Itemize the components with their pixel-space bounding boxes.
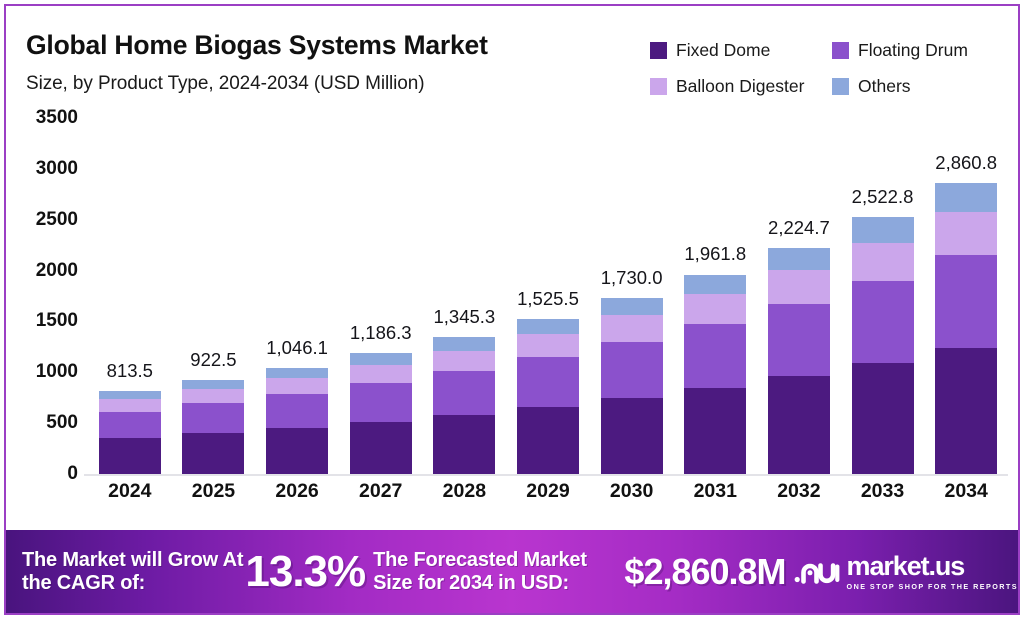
- y-axis-tick-label: 2500: [36, 209, 78, 231]
- bar-value-label: 1,345.3: [433, 306, 495, 328]
- y-axis: 3500300025002000150010005000: [6, 118, 84, 478]
- bar-segment[interactable]: [684, 324, 746, 388]
- bar-segment[interactable]: [601, 315, 663, 341]
- bar-segment[interactable]: [433, 337, 495, 350]
- bar-value-label: 2,860.8: [935, 152, 997, 174]
- bar-segment[interactable]: [768, 248, 830, 270]
- bar-segment[interactable]: [517, 319, 579, 334]
- bar-group[interactable]: 1,961.8: [684, 275, 746, 475]
- bar-segment[interactable]: [350, 365, 412, 383]
- legend-item[interactable]: Floating Drum: [832, 32, 1008, 68]
- bar-stack: [768, 248, 830, 474]
- y-axis-tick-label: 3500: [36, 107, 78, 129]
- bar-segment[interactable]: [517, 357, 579, 407]
- bar-value-label: 1,730.0: [601, 267, 663, 289]
- bar-segment[interactable]: [182, 389, 244, 403]
- x-axis-tick-label: 2025: [182, 480, 244, 503]
- page-subtitle: Size, by Product Type, 2024-2034 (USD Mi…: [26, 73, 424, 95]
- bar-segment[interactable]: [99, 399, 161, 411]
- bar-segment[interactable]: [684, 294, 746, 324]
- bar-segment[interactable]: [99, 412, 161, 438]
- bar-segment[interactable]: [768, 270, 830, 304]
- chart-page: Global Home Biogas Systems Market Size, …: [0, 0, 1024, 619]
- bar-stack: [99, 391, 161, 474]
- bar-segment[interactable]: [684, 275, 746, 295]
- bar-segment[interactable]: [852, 281, 914, 363]
- market-us-logo-icon: [794, 555, 840, 589]
- legend-swatch-icon: [832, 78, 849, 95]
- bar-group[interactable]: 2,522.8: [852, 217, 914, 474]
- bar-value-label: 1,186.3: [350, 322, 412, 344]
- cagr-value: 13.3%: [245, 547, 365, 597]
- y-axis-tick-label: 500: [46, 412, 78, 434]
- bar-segment[interactable]: [266, 428, 328, 474]
- bar-value-label: 2,224.7: [768, 217, 830, 239]
- footer-banner: The Market will Grow At the CAGR of: 13.…: [6, 530, 1018, 613]
- x-axis-tick-label: 2024: [99, 480, 161, 503]
- bar-group[interactable]: 2,860.8: [935, 183, 997, 474]
- logo-wordmark: market.us: [847, 551, 965, 581]
- bar-group[interactable]: 1,046.1: [266, 368, 328, 474]
- bar-group[interactable]: 1,525.5: [517, 319, 579, 474]
- legend-item-label: Others: [858, 76, 911, 97]
- bar-stack: [433, 337, 495, 474]
- bar-segment[interactable]: [266, 394, 328, 428]
- bar-segment[interactable]: [350, 383, 412, 422]
- x-axis-line: [84, 474, 1008, 476]
- bar-group[interactable]: 1,345.3: [433, 337, 495, 474]
- legend-swatch-icon: [650, 78, 667, 95]
- legend-item-label: Balloon Digester: [676, 76, 804, 97]
- bar-segment[interactable]: [517, 334, 579, 357]
- x-axis-labels: 2024202520262027202820292030203120322033…: [88, 480, 1008, 520]
- bar-stack: [266, 368, 328, 474]
- bar-segment[interactable]: [601, 398, 663, 474]
- x-axis-tick-label: 2030: [601, 480, 663, 503]
- x-axis-tick-label: 2027: [350, 480, 412, 503]
- x-axis-tick-label: 2031: [684, 480, 746, 503]
- legend-item[interactable]: Fixed Dome: [650, 32, 826, 68]
- bar-segment[interactable]: [768, 376, 830, 474]
- forecast-size-value: $2,860.8M: [624, 551, 785, 593]
- market-us-logo[interactable]: market.us ONE STOP SHOP FOR THE REPORTS: [794, 553, 1018, 591]
- bar-value-label: 1,046.1: [266, 337, 328, 359]
- bar-stack: [601, 298, 663, 474]
- bar-stack: [852, 217, 914, 474]
- bar-stack: [935, 183, 997, 474]
- bar-segment[interactable]: [266, 378, 328, 394]
- y-axis-tick-label: 1500: [36, 310, 78, 332]
- x-axis-tick-label: 2028: [433, 480, 495, 503]
- page-title: Global Home Biogas Systems Market: [26, 30, 488, 61]
- bar-value-label: 1,525.5: [517, 288, 579, 310]
- bar-segment[interactable]: [852, 363, 914, 474]
- bar-segment[interactable]: [684, 388, 746, 474]
- bars-container: 813.5922.51,046.11,186.31,345.31,525.51,…: [88, 118, 1008, 474]
- cagr-label: The Market will Grow At the CAGR of:: [22, 549, 243, 594]
- bar-segment[interactable]: [517, 407, 579, 474]
- forecast-size-label: The Forecasted Market Size for 2034 in U…: [373, 549, 624, 594]
- market-us-logo-text: market.us ONE STOP SHOP FOR THE REPORTS: [847, 553, 1018, 591]
- bar-stack: [517, 319, 579, 474]
- plot-area: 3500300025002000150010005000 813.5922.51…: [6, 118, 1018, 522]
- bar-value-label: 922.5: [190, 349, 236, 371]
- bar-value-label: 1,961.8: [684, 243, 746, 265]
- legend-item-label: Floating Drum: [858, 40, 968, 61]
- y-axis-tick-label: 2000: [36, 260, 78, 282]
- legend-item[interactable]: Others: [832, 68, 1008, 104]
- y-axis-tick-label: 0: [67, 463, 78, 485]
- chart-frame: Global Home Biogas Systems Market Size, …: [4, 4, 1020, 615]
- x-axis-tick-label: 2029: [517, 480, 579, 503]
- bar-group[interactable]: 1,730.0: [601, 298, 663, 474]
- bar-segment[interactable]: [768, 304, 830, 376]
- bar-segment[interactable]: [601, 298, 663, 315]
- bar-segment[interactable]: [935, 348, 997, 474]
- x-axis-tick-label: 2026: [266, 480, 328, 503]
- bar-group[interactable]: 922.5: [182, 380, 244, 474]
- bar-segment[interactable]: [350, 422, 412, 474]
- x-axis-tick-label: 2034: [935, 480, 997, 503]
- bar-stack: [684, 275, 746, 475]
- bar-value-label: 813.5: [107, 360, 153, 382]
- bar-segment[interactable]: [182, 433, 244, 474]
- bar-segment[interactable]: [433, 351, 495, 371]
- bar-segment[interactable]: [852, 243, 914, 281]
- bar-segment[interactable]: [99, 438, 161, 474]
- bar-value-label: 2,522.8: [852, 186, 914, 208]
- bar-segment[interactable]: [99, 391, 161, 399]
- chart-header: Global Home Biogas Systems Market Size, …: [6, 6, 1018, 118]
- bar-segment[interactable]: [182, 380, 244, 389]
- bar-group[interactable]: 2,224.7: [768, 248, 830, 474]
- bar-segment[interactable]: [350, 353, 412, 365]
- x-axis-tick-label: 2033: [852, 480, 914, 503]
- logo-tagline: ONE STOP SHOP FOR THE REPORTS: [847, 582, 1018, 591]
- bar-segment[interactable]: [266, 368, 328, 378]
- bar-group[interactable]: 1,186.3: [350, 353, 412, 474]
- bar-segment[interactable]: [935, 183, 997, 212]
- legend-item[interactable]: Balloon Digester: [650, 68, 826, 104]
- bar-stack: [182, 380, 244, 474]
- y-axis-tick-label: 1000: [36, 361, 78, 383]
- legend-swatch-icon: [832, 42, 849, 59]
- bar-segment[interactable]: [601, 342, 663, 398]
- bar-segment[interactable]: [433, 415, 495, 474]
- bar-segment[interactable]: [182, 403, 244, 433]
- x-axis-tick-label: 2032: [768, 480, 830, 503]
- bar-group[interactable]: 813.5: [99, 391, 161, 474]
- legend-item-label: Fixed Dome: [676, 40, 770, 61]
- chart-legend: Fixed DomeFloating DrumBalloon DigesterO…: [650, 32, 1010, 104]
- legend-swatch-icon: [650, 42, 667, 59]
- bar-stack: [350, 353, 412, 474]
- y-axis-tick-label: 3000: [36, 158, 78, 180]
- bar-segment[interactable]: [935, 212, 997, 255]
- bar-segment[interactable]: [935, 255, 997, 348]
- bar-segment[interactable]: [433, 371, 495, 415]
- bar-segment[interactable]: [852, 217, 914, 242]
